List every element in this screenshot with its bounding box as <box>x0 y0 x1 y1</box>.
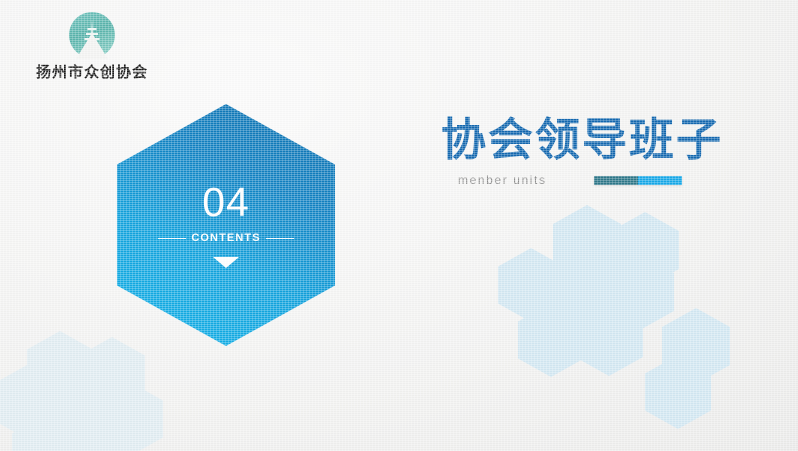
logo-tier-1 <box>88 28 97 30</box>
caption-rule-left <box>158 238 186 239</box>
hexagon-content: 04 CONTENTS <box>117 104 335 346</box>
section-caption-row: CONTENTS <box>158 232 293 244</box>
logo-wordmark: 扬州市众创协会 <box>18 61 166 82</box>
presentation-slide: 扬州市众创协会 04 CONTENTS 协会领导班子 menber units <box>0 0 798 451</box>
section-caption: CONTENTS <box>191 232 260 244</box>
page-subtitle: menber units <box>458 173 547 187</box>
caption-rule-right <box>266 238 294 239</box>
section-number-hexagon: 04 CONTENTS <box>117 104 335 346</box>
accent-bar-dark-segment <box>594 176 638 185</box>
section-number: 04 <box>202 182 250 223</box>
slide-heading: 协会领导班子 menber units <box>441 116 723 187</box>
accent-bar-light-segment <box>638 176 682 185</box>
page-title: 协会领导班子 <box>441 116 723 163</box>
association-logo: 扬州市众创协会 <box>18 12 166 82</box>
accent-bar <box>594 176 682 185</box>
subtitle-row: menber units <box>441 173 723 187</box>
down-triangle-icon <box>213 257 239 268</box>
pagoda-logo-icon <box>69 12 115 58</box>
